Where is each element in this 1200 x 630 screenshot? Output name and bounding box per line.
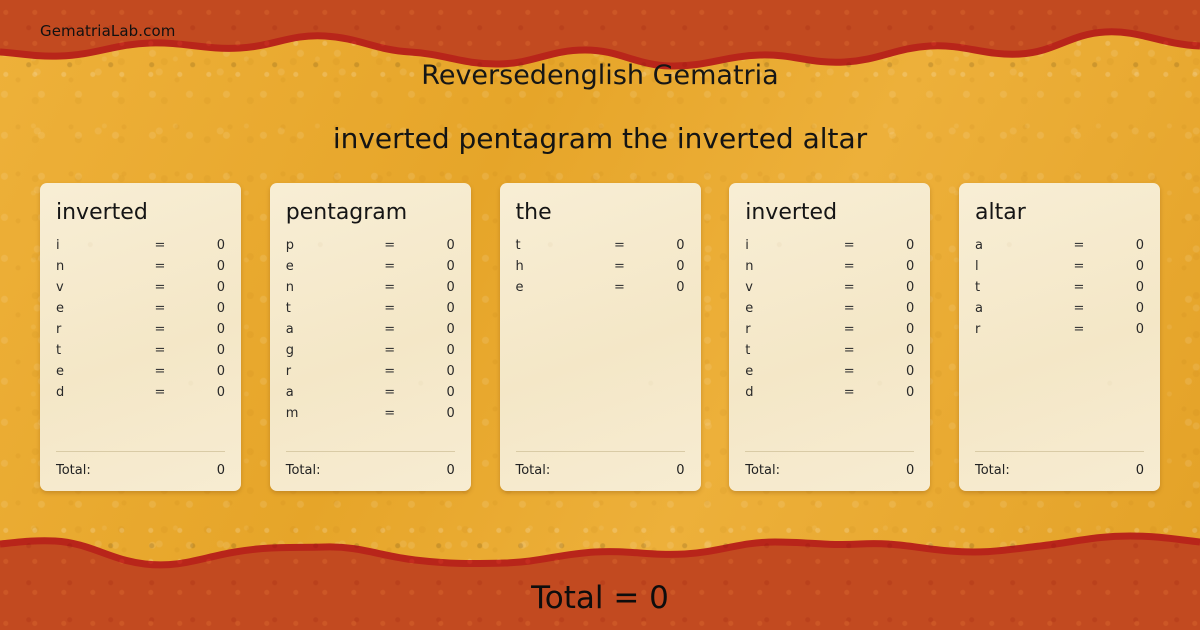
letter-label: r: [975, 322, 1053, 337]
equals-sign: =: [364, 259, 416, 274]
letter-value-row: a=0: [286, 319, 455, 340]
letter-value: 0: [416, 259, 455, 274]
equals-sign: =: [823, 322, 875, 337]
card-total-label: Total:: [56, 463, 217, 478]
letter-value-row: a=0: [975, 298, 1144, 319]
letter-label: v: [745, 280, 823, 295]
equals-sign: =: [134, 364, 186, 379]
letter-value: 0: [186, 301, 225, 316]
equals-sign: =: [364, 238, 416, 253]
letter-value-row: n=0: [56, 256, 225, 277]
letter-value: 0: [875, 280, 914, 295]
letter-value: 0: [186, 343, 225, 358]
equals-sign: =: [134, 280, 186, 295]
letter-label: n: [286, 280, 364, 295]
letter-value: 0: [416, 322, 455, 337]
letter-value: 0: [186, 385, 225, 400]
letter-label: t: [516, 238, 594, 253]
equals-sign: =: [134, 259, 186, 274]
letter-label: i: [745, 238, 823, 253]
letter-label: t: [56, 343, 134, 358]
letter-value: 0: [186, 364, 225, 379]
letter-value-row: a=0: [975, 235, 1144, 256]
letter-label: e: [745, 301, 823, 316]
letter-label: n: [745, 259, 823, 274]
letter-value-row: n=0: [286, 277, 455, 298]
equals-sign: =: [364, 406, 416, 421]
letter-value-row: e=0: [56, 298, 225, 319]
letter-value-row: n=0: [745, 256, 914, 277]
equals-sign: =: [364, 343, 416, 358]
equals-sign: =: [594, 259, 646, 274]
letter-value-row: g=0: [286, 340, 455, 361]
letter-value-row: a=0: [286, 382, 455, 403]
equals-sign: =: [364, 385, 416, 400]
letter-label: v: [56, 280, 134, 295]
equals-sign: =: [1053, 238, 1105, 253]
letter-label: a: [286, 322, 364, 337]
page-title: Reversedenglish Gematria: [0, 60, 1200, 91]
letter-value: 0: [186, 259, 225, 274]
letter-value-row: h=0: [516, 256, 685, 277]
letter-value-row: r=0: [286, 361, 455, 382]
letter-value-row: m=0: [286, 403, 455, 424]
card-word: the: [516, 201, 685, 225]
letter-value-row: r=0: [56, 319, 225, 340]
letter-label: r: [56, 322, 134, 337]
letter-label: a: [975, 301, 1053, 316]
equals-sign: =: [823, 280, 875, 295]
letter-value: 0: [1105, 238, 1144, 253]
letter-value-row: e=0: [745, 298, 914, 319]
card-total-row: Total:0: [745, 461, 914, 479]
letter-value-row: r=0: [975, 319, 1144, 340]
letter-value: 0: [416, 301, 455, 316]
letter-value-list: t=0h=0e=0: [516, 235, 685, 298]
letter-value-row: l=0: [975, 256, 1144, 277]
card-total-value: 0: [906, 463, 914, 478]
card-total-row: Total:0: [286, 461, 455, 479]
word-card: invertedi=0n=0v=0e=0r=0t=0e=0d=0Total:0: [40, 183, 241, 491]
letter-value: 0: [416, 238, 455, 253]
word-card: invertedi=0n=0v=0e=0r=0t=0e=0d=0Total:0: [729, 183, 930, 491]
card-total-label: Total:: [286, 463, 447, 478]
letter-value: 0: [416, 385, 455, 400]
letter-value: 0: [186, 238, 225, 253]
equals-sign: =: [364, 280, 416, 295]
letter-value-row: e=0: [286, 256, 455, 277]
letter-label: e: [286, 259, 364, 274]
card-total-label: Total:: [975, 463, 1136, 478]
card-divider: [975, 451, 1144, 452]
letter-label: e: [56, 364, 134, 379]
letter-value-list: p=0e=0n=0t=0a=0g=0r=0a=0m=0: [286, 235, 455, 424]
site-logo[interactable]: GematriaLab.com: [40, 22, 175, 40]
letter-value: 0: [416, 406, 455, 421]
card-total-value: 0: [217, 463, 225, 478]
equals-sign: =: [1053, 322, 1105, 337]
letter-value: 0: [416, 364, 455, 379]
letter-value: 0: [186, 280, 225, 295]
page-subtitle: inverted pentagram the inverted altar: [0, 122, 1200, 155]
equals-sign: =: [823, 238, 875, 253]
letter-value-row: i=0: [745, 235, 914, 256]
letter-value: 0: [875, 301, 914, 316]
card-divider: [516, 451, 685, 452]
letter-value-row: e=0: [56, 361, 225, 382]
card-total-value: 0: [1136, 463, 1144, 478]
letter-value: 0: [646, 259, 685, 274]
card-word: inverted: [745, 201, 914, 225]
letter-value-list: a=0l=0t=0a=0r=0: [975, 235, 1144, 340]
letter-value: 0: [186, 322, 225, 337]
letter-value-list: i=0n=0v=0e=0r=0t=0e=0d=0: [56, 235, 225, 403]
letter-value-row: e=0: [516, 277, 685, 298]
equals-sign: =: [134, 385, 186, 400]
letter-value-row: d=0: [745, 382, 914, 403]
letter-value: 0: [1105, 322, 1144, 337]
letter-value: 0: [1105, 280, 1144, 295]
letter-label: e: [745, 364, 823, 379]
card-total-label: Total:: [745, 463, 906, 478]
letter-value: 0: [416, 343, 455, 358]
letter-value-list: i=0n=0v=0e=0r=0t=0e=0d=0: [745, 235, 914, 403]
card-word: inverted: [56, 201, 225, 225]
equals-sign: =: [134, 343, 186, 358]
equals-sign: =: [823, 364, 875, 379]
letter-label: m: [286, 406, 364, 421]
letter-label: a: [975, 238, 1053, 253]
letter-value: 0: [875, 385, 914, 400]
letter-label: t: [745, 343, 823, 358]
equals-sign: =: [823, 259, 875, 274]
equals-sign: =: [134, 301, 186, 316]
grand-total: Total = 0: [0, 580, 1200, 616]
letter-label: t: [286, 301, 364, 316]
letter-value-row: v=0: [745, 277, 914, 298]
card-total-row: Total:0: [975, 461, 1144, 479]
equals-sign: =: [823, 385, 875, 400]
letter-label: e: [516, 280, 594, 295]
letter-value-row: t=0: [975, 277, 1144, 298]
word-card: altara=0l=0t=0a=0r=0Total:0: [959, 183, 1160, 491]
card-spacer: [745, 403, 914, 451]
letter-value: 0: [1105, 301, 1144, 316]
equals-sign: =: [823, 343, 875, 358]
equals-sign: =: [134, 238, 186, 253]
letter-label: d: [745, 385, 823, 400]
letter-value-row: t=0: [56, 340, 225, 361]
card-divider: [56, 451, 225, 452]
card-spacer: [56, 403, 225, 451]
equals-sign: =: [364, 301, 416, 316]
letter-value: 0: [416, 280, 455, 295]
equals-sign: =: [134, 322, 186, 337]
letter-value: 0: [875, 343, 914, 358]
card-spacer: [286, 424, 455, 451]
card-total-label: Total:: [516, 463, 677, 478]
letter-label: p: [286, 238, 364, 253]
letter-label: g: [286, 343, 364, 358]
letter-value-row: t=0: [286, 298, 455, 319]
letter-label: h: [516, 259, 594, 274]
letter-label: l: [975, 259, 1053, 274]
letter-label: a: [286, 385, 364, 400]
letter-value: 0: [875, 259, 914, 274]
letter-label: d: [56, 385, 134, 400]
card-total-value: 0: [446, 463, 454, 478]
letter-value: 0: [875, 322, 914, 337]
equals-sign: =: [1053, 280, 1105, 295]
word-card-row: invertedi=0n=0v=0e=0r=0t=0e=0d=0Total:0p…: [40, 183, 1160, 491]
letter-value-row: e=0: [745, 361, 914, 382]
letter-label: e: [56, 301, 134, 316]
card-total-value: 0: [676, 463, 684, 478]
card-word: altar: [975, 201, 1144, 225]
letter-value: 0: [875, 238, 914, 253]
card-divider: [745, 451, 914, 452]
card-total-row: Total:0: [516, 461, 685, 479]
equals-sign: =: [364, 364, 416, 379]
equals-sign: =: [823, 301, 875, 316]
equals-sign: =: [1053, 259, 1105, 274]
card-spacer: [975, 340, 1144, 451]
equals-sign: =: [1053, 301, 1105, 316]
letter-value: 0: [646, 280, 685, 295]
card-divider: [286, 451, 455, 452]
letter-value: 0: [646, 238, 685, 253]
card-total-row: Total:0: [56, 461, 225, 479]
letter-value-row: v=0: [56, 277, 225, 298]
card-word: pentagram: [286, 201, 455, 225]
letter-label: n: [56, 259, 134, 274]
letter-value-row: t=0: [745, 340, 914, 361]
equals-sign: =: [594, 280, 646, 295]
letter-value-row: r=0: [745, 319, 914, 340]
equals-sign: =: [594, 238, 646, 253]
letter-value-row: t=0: [516, 235, 685, 256]
word-card: pentagramp=0e=0n=0t=0a=0g=0r=0a=0m=0Tota…: [270, 183, 471, 491]
letter-value: 0: [875, 364, 914, 379]
letter-label: t: [975, 280, 1053, 295]
letter-label: r: [286, 364, 364, 379]
letter-value-row: p=0: [286, 235, 455, 256]
letter-value: 0: [1105, 259, 1144, 274]
equals-sign: =: [364, 322, 416, 337]
letter-value-row: i=0: [56, 235, 225, 256]
word-card: thet=0h=0e=0Total:0: [500, 183, 701, 491]
letter-label: r: [745, 322, 823, 337]
letter-value-row: d=0: [56, 382, 225, 403]
letter-label: i: [56, 238, 134, 253]
card-spacer: [516, 298, 685, 451]
